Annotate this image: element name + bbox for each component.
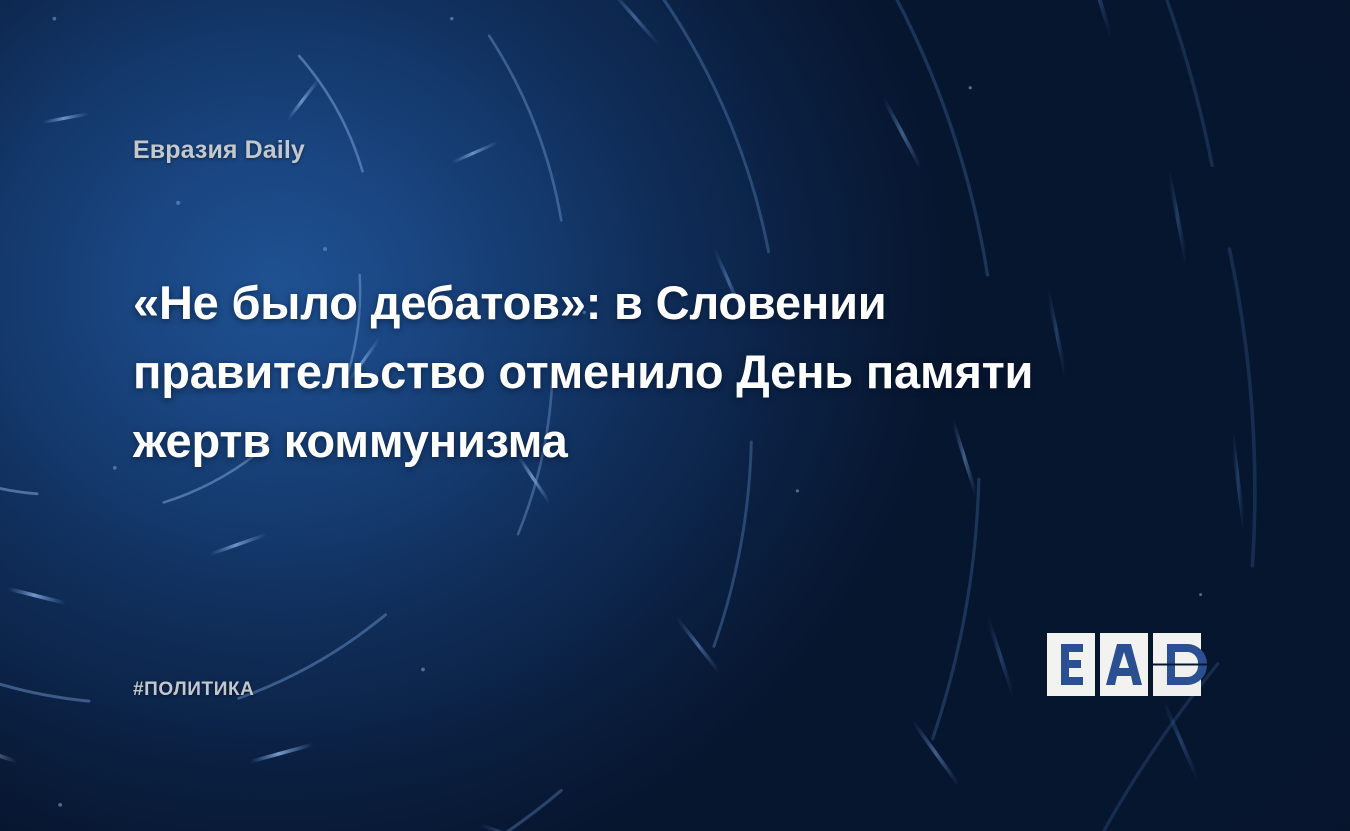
headline-line-1: «Не было дебатов»: в Словении bbox=[133, 268, 1203, 337]
brand-name: Евразия Daily bbox=[133, 136, 305, 165]
headline-line-3: жертв коммунизма bbox=[133, 406, 1203, 475]
headline-line-2: правительство отменило День памяти bbox=[133, 337, 1203, 406]
page-title: «Не было дебатов»: в Словении правительс… bbox=[133, 268, 1203, 475]
category-tag[interactable]: #ПОЛИТИКА bbox=[133, 679, 255, 701]
ead-logo[interactable] bbox=[1047, 633, 1222, 696]
logo-tile-a bbox=[1100, 633, 1148, 696]
logo-letter-e bbox=[1061, 644, 1083, 685]
news-card: Евразия Daily «Не было дебатов»: в Слове… bbox=[0, 0, 1350, 831]
card-content: Евразия Daily «Не было дебатов»: в Слове… bbox=[0, 0, 1350, 831]
